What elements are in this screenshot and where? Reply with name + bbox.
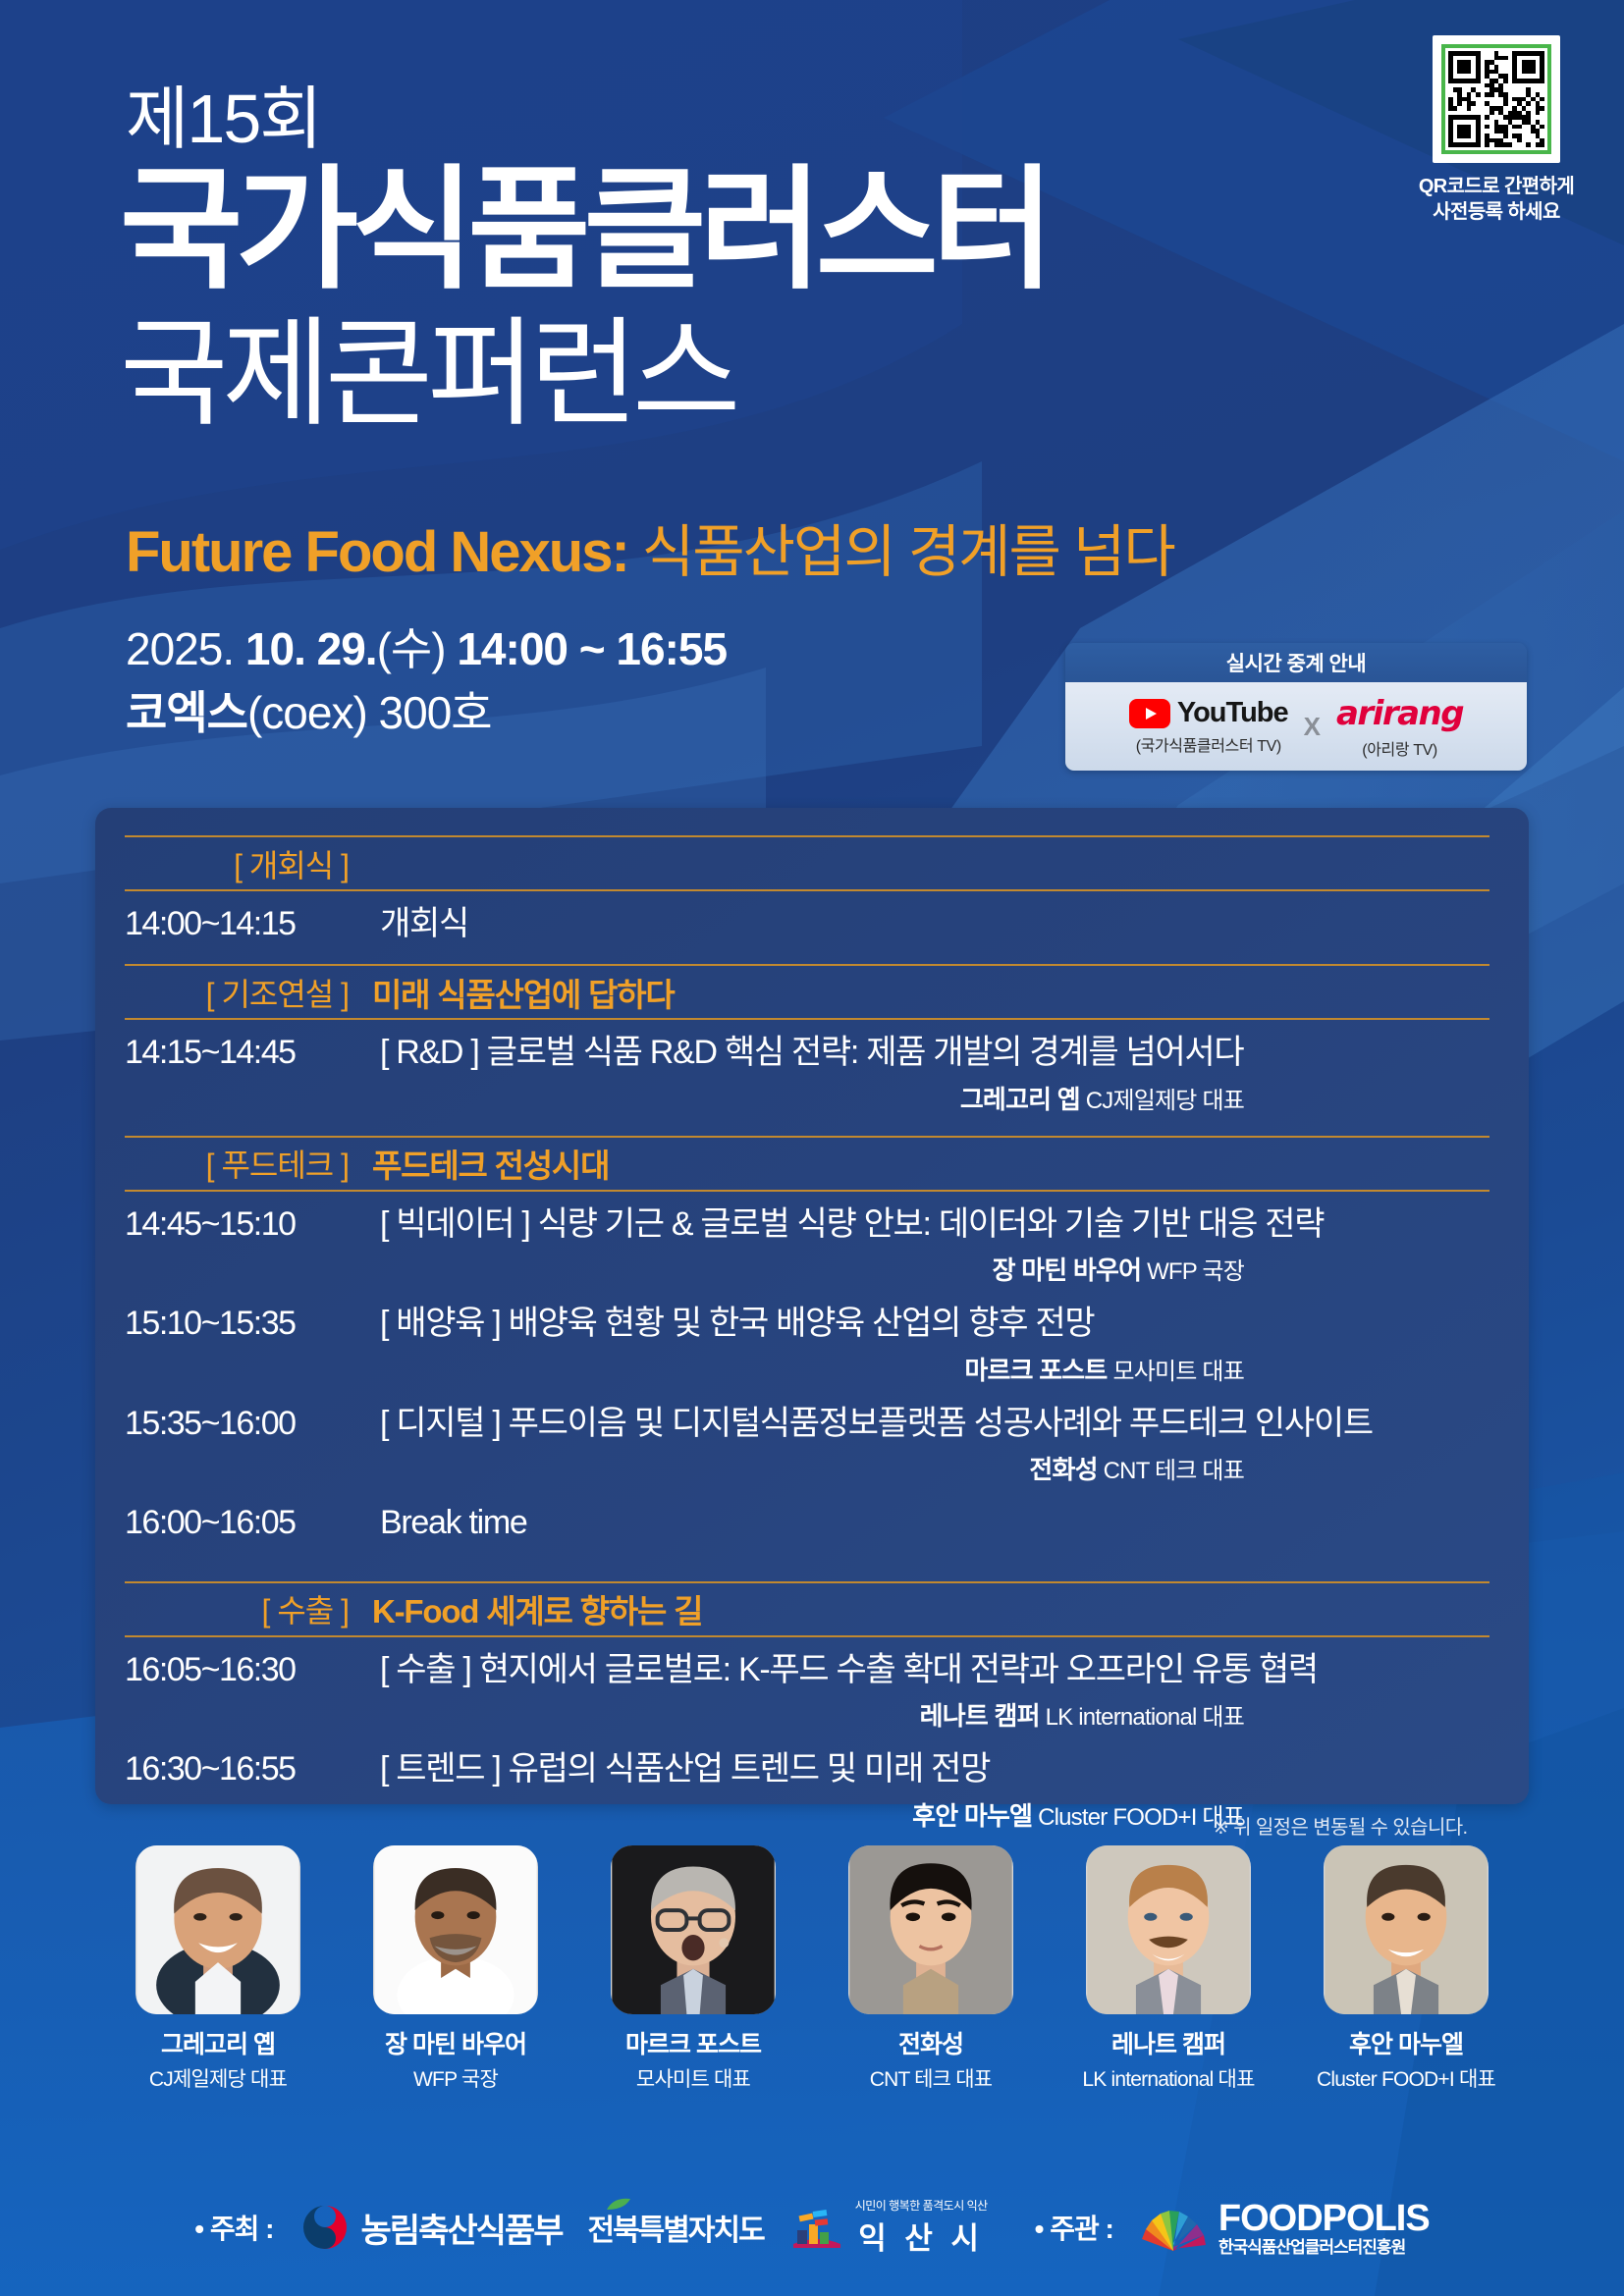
speaker-role: Cluster FOOD+I 대표 <box>1306 2063 1507 2093</box>
qr-registration-block[interactable]: QR코드로 간편하게 사전등록 하세요 <box>1408 35 1585 226</box>
venue-name: 코엑스 <box>126 687 247 738</box>
schedule-row: 15:35~16:00 [ 디지털 ] 푸드이음 및 디지털식품정보플랫폼 성공… <box>125 1391 1489 1490</box>
arirang-channel[interactable]: arirang (아리랑 TV) <box>1336 694 1463 760</box>
host-logo-mafra: 농림축산식품부 <box>299 2202 563 2253</box>
schedule-row: 16:00~16:05 Break time <box>125 1490 1489 1547</box>
avatar <box>1324 1845 1489 2014</box>
iksan-emblem-icon <box>789 2205 844 2250</box>
live-stream-body: YouTube (국가식품클러스터 TV) X arirang (아리랑 TV) <box>1065 682 1527 771</box>
row-topic: 개회식 <box>380 904 1489 944</box>
host-name-2: 전북특별자치도 <box>587 2215 763 2247</box>
section-title: 푸드테크 전성시대 <box>372 1140 609 1187</box>
row-topic: [ 디지털 ] 푸드이음 및 디지털식품정보플랫폼 성공사례와 푸드테크 인사이… <box>380 1404 1489 1444</box>
row-speaker-name: 전화성 <box>1029 1455 1097 1484</box>
schedule-row: 15:10~15:35 [ 배양육 ] 배양육 현황 및 한국 배양육 산업의 … <box>125 1291 1489 1390</box>
jeonbuk-leaf-icon <box>606 2197 631 2212</box>
event-date: 10. 29. <box>245 623 377 674</box>
row-topic: Break time <box>380 1503 1489 1543</box>
row-time: 16:05~16:30 <box>125 1650 372 1689</box>
row-speaker-role: CNT 테크 대표 <box>1104 1458 1244 1484</box>
speaker-name: 레나트 캠퍼 <box>1068 2025 1270 2060</box>
schedule-section-header: [ 기조연설 ] 미래 식품산업에 답하다 <box>125 964 1489 1020</box>
page-subtitle: 국제콘퍼런스 <box>120 314 734 434</box>
speaker-role: CJ제일제당 대표 <box>118 2063 319 2093</box>
youtube-channel[interactable]: YouTube (국가식품클러스터 TV) <box>1129 697 1288 756</box>
avatar <box>611 1845 776 2014</box>
row-topic: [ 트렌드 ] 유럽의 식품산업 트렌드 및 미래 전망 <box>380 1749 1489 1789</box>
poster-root: 제15회 국가식품클러스터 국제콘퍼런스 Future Food Nexus: … <box>0 0 1624 2296</box>
avatar <box>848 1845 1013 2014</box>
row-speaker-name: 그레고리 옙 <box>960 1085 1080 1114</box>
row-speaker-role: CJ제일제당 대표 <box>1086 1088 1244 1114</box>
edition-label: 제15회 <box>126 84 321 153</box>
speaker-card: 전화성 CNT 테크 대표 <box>831 1845 1032 2169</box>
row-speaker: 장 마틴 바우어 WFP 국장 <box>380 1251 1489 1287</box>
tagline-separator: : <box>611 520 641 584</box>
speaker-name: 전화성 <box>831 2025 1032 2060</box>
schedule-section-header: [ 푸드테크 ] 푸드테크 전성시대 <box>125 1136 1489 1192</box>
schedule-section-header: [ 개회식 ] <box>125 835 1489 891</box>
youtube-play-icon <box>1129 699 1170 728</box>
row-topic: [ R&D ] 글로벌 식품 R&D 핵심 전략: 제품 개발의 경계를 넘어서… <box>380 1033 1489 1073</box>
speaker-card: 레나트 캠퍼 LK international 대표 <box>1068 1845 1270 2169</box>
row-speaker: 전화성 CNT 테크 대표 <box>380 1450 1489 1486</box>
row-speaker-role: LK international 대표 <box>1046 1704 1244 1731</box>
page-title: 국가식품클러스터 <box>120 162 1048 298</box>
row-time: 14:15~14:45 <box>125 1033 372 1072</box>
speaker-card: 후안 마누엘 Cluster FOOD+I 대표 <box>1306 1845 1507 2169</box>
speaker-name: 후안 마누엘 <box>1306 2025 1507 2060</box>
taegeuk-icon <box>299 2202 351 2253</box>
row-topic: [ 배양육 ] 배양육 현황 및 한국 배양육 산업의 향후 전망 <box>380 1304 1489 1344</box>
tagline-ko: 식품산업의 경계를 넘다 <box>642 520 1174 584</box>
row-speaker: 그레고리 옙 CJ제일제당 대표 <box>380 1080 1489 1116</box>
row-time: 14:00~14:15 <box>125 904 372 943</box>
speaker-card: 그레고리 옙 CJ제일제당 대표 <box>118 1845 319 2169</box>
section-tag: [ 기조연설 ] <box>125 970 372 1015</box>
tagline-en: Future Food Nexus <box>126 520 611 584</box>
youtube-caption: (국가식품클러스터 TV) <box>1129 732 1288 756</box>
stream-separator: X <box>1304 712 1321 742</box>
tagline: Future Food Nexus: 식품산업의 경계를 넘다 <box>126 506 1174 588</box>
section-title: K-Food 세계로 향하는 길 <box>372 1585 702 1632</box>
foodpolis-fan-icon <box>1139 2202 1208 2253</box>
section-tag: [ 수출 ] <box>125 1586 372 1631</box>
speaker-card: 장 마틴 바우어 WFP 국장 <box>355 1845 557 2169</box>
row-topic: [ 빅데이터 ] 식량 기근 & 글로벌 식량 안보: 데이터와 기술 기반 대… <box>380 1204 1489 1245</box>
schedule-panel: [ 개회식 ] 14:00~14:15 개회식 [ 기조연설 ] 미래 식품산업… <box>95 808 1529 1804</box>
event-datetime: 2025. 10. 29.(수) 14:00 ~ 16:55 <box>126 614 727 678</box>
organizer-subname: 한국식품산업클러스터진흥원 <box>1218 2239 1430 2256</box>
qr-code-icon[interactable] <box>1441 44 1551 154</box>
iksan-name: 익 산 시 <box>855 2214 988 2258</box>
arirang-logo: arirang <box>1336 694 1463 733</box>
row-speaker-role: 모사미트 대표 <box>1112 1359 1244 1385</box>
section-tag: [ 푸드테크 ] <box>125 1141 372 1186</box>
event-year: 2025. <box>126 623 245 674</box>
venue-detail: (coex) 300호 <box>247 687 492 738</box>
speaker-name: 장 마틴 바우어 <box>355 2025 557 2060</box>
schedule-row: 14:45~15:10 [ 빅데이터 ] 식량 기근 & 글로벌 식량 안보: … <box>125 1192 1489 1291</box>
schedule-row: 14:00~14:15 개회식 <box>125 891 1489 948</box>
host-logo-jeonbuk: 전북특별자치도 <box>587 2206 763 2249</box>
event-weekday: (수) <box>377 623 458 674</box>
speaker-role: LK international 대표 <box>1068 2063 1270 2093</box>
avatar <box>135 1845 300 2014</box>
iksan-slogan: 시민이 행복한 품격도시 익산 <box>855 2197 988 2214</box>
row-speaker-name: 레나트 캠퍼 <box>920 1701 1040 1731</box>
avatar <box>1086 1845 1251 2014</box>
speaker-name: 그레고리 옙 <box>118 2025 319 2060</box>
youtube-label: YouTube <box>1177 697 1288 729</box>
poster-footer: • 주최 : 농림축산식품부 전북특별자치도 <box>0 2159 1624 2296</box>
qr-caption-line1: QR코드로 간편하게 <box>1408 174 1585 199</box>
qr-modules <box>1448 51 1544 147</box>
host-label: • 주최 : <box>194 2208 273 2247</box>
event-time-range: 14:00 ~ 16:55 <box>457 623 727 674</box>
row-time: 14:45~15:10 <box>125 1204 372 1244</box>
arirang-caption: (아리랑 TV) <box>1336 736 1463 760</box>
speaker-card: 마르크 포스트 모사미트 대표 <box>593 1845 794 2169</box>
schedule-section-header: [ 수출 ] K-Food 세계로 향하는 길 <box>125 1581 1489 1637</box>
speaker-role: 모사미트 대표 <box>593 2063 794 2093</box>
row-time: 15:10~15:35 <box>125 1304 372 1343</box>
qr-card[interactable] <box>1433 35 1560 163</box>
row-speaker-name: 마르크 포스트 <box>964 1356 1107 1385</box>
row-time: 15:35~16:00 <box>125 1404 372 1443</box>
speaker-name: 마르크 포스트 <box>593 2025 794 2060</box>
speaker-role: WFP 국장 <box>355 2063 557 2093</box>
event-venue: 코엑스(coex) 300호 <box>126 677 492 742</box>
schedule-row: 16:05~16:30 [ 수출 ] 현지에서 글로벌로: K-푸드 수출 확대… <box>125 1637 1489 1736</box>
speaker-role: CNT 테크 대표 <box>831 2063 1032 2093</box>
organizer-name: FOODPOLIS <box>1218 2200 1430 2237</box>
organizer-logo-foodpolis: FOODPOLIS 한국식품산업클러스터진흥원 <box>1139 2200 1430 2256</box>
avatar <box>373 1845 538 2014</box>
row-speaker: 마르크 포스트 모사미트 대표 <box>380 1351 1489 1387</box>
row-speaker: 레나트 캠퍼 LK international 대표 <box>380 1696 1489 1733</box>
schedule-row: 14:15~14:45 [ R&D ] 글로벌 식품 R&D 핵심 전략: 제품… <box>125 1020 1489 1119</box>
section-title: 미래 식품산업에 답하다 <box>372 969 675 1016</box>
qr-caption-line2: 사전등록 하세요 <box>1408 199 1585 225</box>
organizer-label: • 주관 : <box>1035 2208 1113 2247</box>
section-tag: [ 개회식 ] <box>125 841 372 886</box>
row-time: 16:30~16:55 <box>125 1749 372 1789</box>
speaker-gallery: 그레고리 옙 CJ제일제당 대표 장 마틴 바우어 WFP 국장 <box>0 1845 1624 2169</box>
row-speaker-role: WFP 국장 <box>1147 1258 1244 1285</box>
host-name-1: 농림축산식품부 <box>361 2204 563 2252</box>
row-speaker-name: 장 마틴 바우어 <box>993 1255 1142 1285</box>
live-stream-box: 실시간 중계 안내 YouTube (국가식품클러스터 TV) X ariran… <box>1065 643 1527 771</box>
live-stream-header: 실시간 중계 안내 <box>1065 643 1527 682</box>
row-topic: [ 수출 ] 현지에서 글로벌로: K-푸드 수출 확대 전략과 오프라인 유통… <box>380 1650 1489 1690</box>
row-speaker-name: 후안 마누엘 <box>912 1801 1032 1831</box>
qr-caption: QR코드로 간편하게 사전등록 하세요 <box>1408 174 1585 226</box>
host-logo-iksan: 시민이 행복한 품격도시 익산 익 산 시 <box>789 2197 988 2258</box>
row-time: 16:00~16:05 <box>125 1503 372 1542</box>
